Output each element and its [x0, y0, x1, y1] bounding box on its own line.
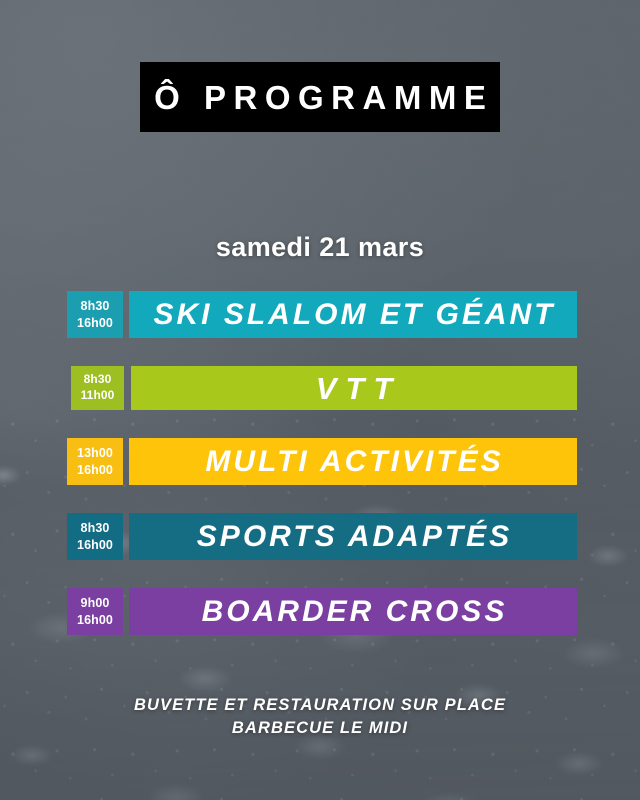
schedule-activity-bar: MULTI ACTIVITÉS: [129, 438, 577, 485]
schedule-row: 8h30 16h00 SPORTS ADAPTÉS: [67, 513, 577, 560]
schedule-row: 13h00 16h00 MULTI ACTIVITÉS: [67, 438, 577, 485]
schedule-end-time: 16h00: [77, 315, 113, 332]
footer-line-1: BUVETTE ET RESTAURATION SUR PLACE: [0, 694, 640, 717]
page-title: Ô PROGRAMME: [147, 81, 494, 114]
schedule-activity-label: VTT: [307, 373, 402, 404]
schedule-activity-label: MULTI ACTIVITÉS: [202, 447, 503, 477]
schedule-row: 9h00 16h00 BOARDER CROSS: [67, 588, 577, 635]
footer-line-2: BARBECUE LE MIDI: [0, 717, 640, 740]
schedule-activity-label: SKI SLALOM ET GÉANT: [151, 300, 556, 330]
schedule-start-time: 9h00: [81, 595, 110, 612]
schedule-list: 8h30 16h00 SKI SLALOM ET GÉANT 8h30 11h0…: [0, 291, 640, 635]
schedule-row: 8h30 11h00 VTT: [71, 366, 577, 410]
schedule-start-time: 13h00: [77, 445, 113, 462]
schedule-time-box: 8h30 16h00: [67, 291, 123, 338]
schedule-time-box: 8h30 16h00: [67, 513, 123, 560]
schedule-end-time: 11h00: [81, 388, 115, 404]
schedule-time-box: 13h00 16h00: [67, 438, 123, 485]
schedule-start-time: 8h30: [81, 520, 110, 537]
schedule-activity-bar: SPORTS ADAPTÉS: [129, 513, 577, 560]
title-banner: Ô PROGRAMME: [140, 62, 500, 132]
schedule-end-time: 16h00: [77, 537, 113, 554]
schedule-start-time: 8h30: [81, 298, 110, 315]
schedule-activity-bar: VTT: [131, 366, 577, 410]
schedule-time-box: 8h30 11h00: [71, 366, 124, 410]
poster-content: Ô PROGRAMME samedi 21 mars 8h30 16h00 SK…: [0, 0, 640, 800]
schedule-activity-bar: SKI SLALOM ET GÉANT: [129, 291, 577, 338]
schedule-row: 8h30 16h00 SKI SLALOM ET GÉANT: [67, 291, 577, 338]
schedule-end-time: 16h00: [77, 462, 113, 479]
schedule-start-time: 8h30: [84, 372, 112, 388]
poster-canvas: Ô PROGRAMME samedi 21 mars 8h30 16h00 SK…: [0, 0, 640, 800]
schedule-time-box: 9h00 16h00: [67, 588, 123, 635]
footer-note: BUVETTE ET RESTAURATION SUR PLACE BARBEC…: [0, 694, 640, 741]
schedule-activity-label: SPORTS ADAPTÉS: [194, 522, 512, 552]
schedule-activity-bar: BOARDER CROSS: [129, 588, 577, 635]
schedule-activity-label: BOARDER CROSS: [199, 597, 508, 627]
event-date: samedi 21 mars: [0, 232, 640, 263]
schedule-end-time: 16h00: [77, 612, 113, 629]
